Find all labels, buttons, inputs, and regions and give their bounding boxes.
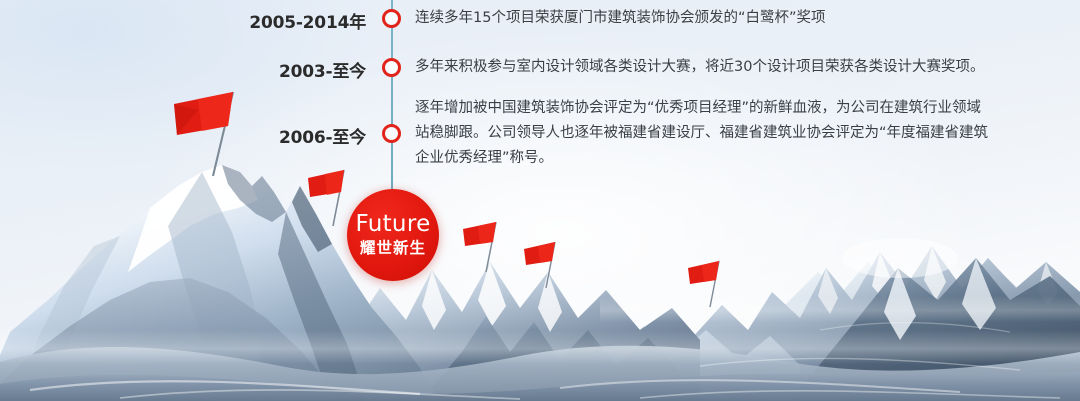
timeline-description-2-line-1: 多年来积极参与室内设计领域各类设计大赛，将近30个设计项目荣获各类设计大赛奖项。	[415, 55, 984, 80]
timeline-marker-2[interactable]	[382, 58, 401, 77]
hero-banner: 2005-2014年 连续多年15个项目荣获厦门市建筑装饰协会颁发的“白鹭杯”奖…	[0, 0, 1080, 401]
timeline-axis	[391, 0, 393, 215]
future-badge-title-cn: 耀世新生	[360, 241, 426, 257]
peak-flag-5	[684, 257, 730, 309]
timeline-description-1: 连续多年15个项目荣获厦门市建筑装饰协会颁发的“白鹭杯”奖项	[415, 6, 825, 31]
peak-flag-3	[459, 218, 507, 274]
timeline-marker-1[interactable]	[382, 9, 401, 28]
future-badge[interactable]: Future 耀世新生	[347, 189, 439, 281]
timeline-period-3: 2006-至今	[246, 123, 366, 148]
timeline-period-2: 2003-至今	[246, 57, 366, 82]
timeline-description-1-line-1: 连续多年15个项目荣获厦门市建筑装饰协会颁发的“白鹭杯”奖项	[415, 6, 825, 31]
timeline-description-3-line-3: 企业优秀经理”称号。	[415, 146, 988, 171]
timeline-period-1: 2005-2014年	[246, 8, 366, 33]
peak-flag-4	[520, 238, 566, 290]
timeline-description-3: 逐年增加被中国建筑装饰协会评定为“优秀项目经理”的新鲜血液，为公司在建筑行业领域…	[415, 96, 988, 171]
timeline-description-3-line-1: 逐年增加被中国建筑装饰协会评定为“优秀项目经理”的新鲜血液，为公司在建筑行业领域	[415, 96, 988, 121]
timeline-description-3-line-2: 站稳脚跟。公司领导人也逐年被福建省建设厅、福建省建筑业协会评定为“年度福建省建筑	[415, 121, 988, 146]
future-badge-title-en: Future	[355, 213, 430, 236]
timeline-description-2: 多年来积极参与室内设计领域各类设计大赛，将近30个设计项目荣获各类设计大赛奖项。	[415, 55, 984, 80]
summit-flag-main	[168, 86, 254, 178]
timeline-marker-3[interactable]	[382, 124, 401, 143]
